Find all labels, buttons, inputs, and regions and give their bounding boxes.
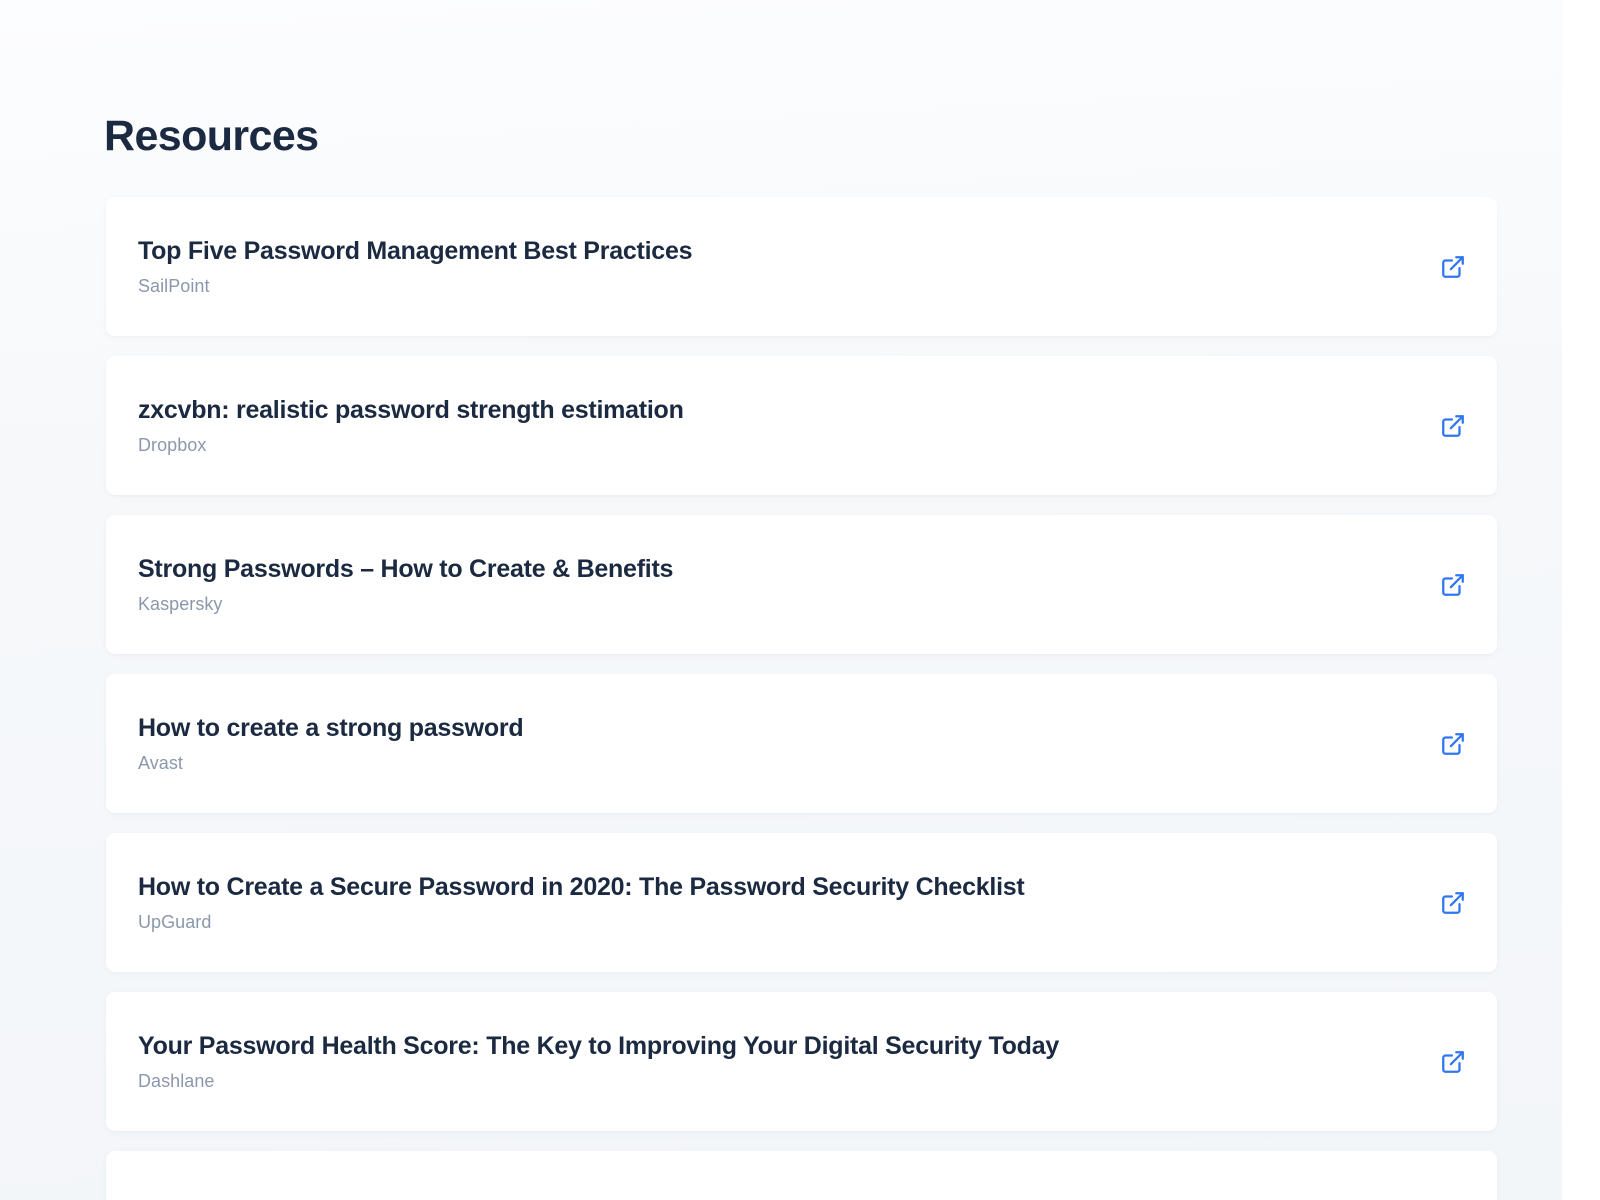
resource-source: Kaspersky (138, 593, 673, 615)
resources-page: Resources Top Five Password Management B… (0, 0, 1562, 1200)
resource-card[interactable]: How to Create a Secure Password in 2020:… (106, 833, 1497, 972)
resource-source: Avast (138, 752, 523, 774)
resource-source: SailPoint (138, 275, 692, 297)
resource-title: Your Password Health Score: The Key to I… (138, 1031, 1059, 1062)
resource-list: Top Five Password Management Best Practi… (106, 197, 1497, 1200)
resource-card[interactable]: Your Password Health Score: The Key to I… (106, 992, 1497, 1131)
resource-title: zxcvbn: realistic password strength esti… (138, 395, 684, 426)
page-background: Resources Top Five Password Management B… (0, 0, 1562, 1200)
resource-source: Dashlane (138, 1070, 1059, 1092)
resource-card[interactable]: Strong Passwords – How to Create & Benef… (106, 515, 1497, 654)
resource-card[interactable]: Top Five Password Management Best Practi… (106, 197, 1497, 336)
external-link-icon[interactable] (1433, 1042, 1473, 1082)
external-link-icon[interactable] (1433, 406, 1473, 446)
resource-card-text: How to Create a Secure Password in 2020:… (138, 872, 1025, 933)
resource-title: Top Five Password Management Best Practi… (138, 236, 692, 267)
resource-source: Dropbox (138, 434, 684, 456)
resource-card-text: Your Password Health Score: The Key to I… (138, 1031, 1059, 1092)
resource-title: How to Create a Secure Password in 2020:… (138, 872, 1025, 903)
external-link-icon[interactable] (1433, 883, 1473, 923)
resource-card-text: How to create a strong password Avast (138, 713, 523, 774)
resource-card[interactable] (106, 1151, 1497, 1200)
resource-card[interactable]: How to create a strong password Avast (106, 674, 1497, 813)
resource-card[interactable]: zxcvbn: realistic password strength esti… (106, 356, 1497, 495)
external-link-icon[interactable] (1433, 724, 1473, 764)
page-title: Resources (104, 108, 319, 164)
resource-source: UpGuard (138, 911, 1025, 933)
resource-title: How to create a strong password (138, 713, 523, 744)
resource-card-text: zxcvbn: realistic password strength esti… (138, 395, 684, 456)
right-gutter (1562, 0, 1600, 1200)
resource-title: Strong Passwords – How to Create & Benef… (138, 554, 673, 585)
external-link-icon[interactable] (1433, 565, 1473, 605)
external-link-icon[interactable] (1433, 247, 1473, 287)
resource-card-text: Strong Passwords – How to Create & Benef… (138, 554, 673, 615)
resource-card-text: Top Five Password Management Best Practi… (138, 236, 692, 297)
